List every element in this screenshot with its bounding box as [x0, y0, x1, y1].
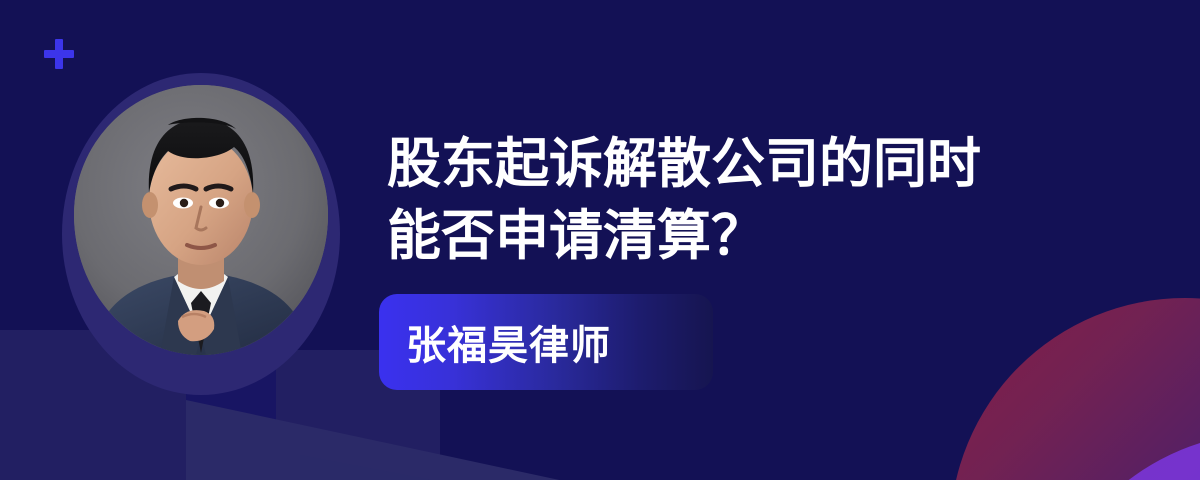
- avatar: [74, 85, 328, 355]
- plus-icon-bar-vertical: [55, 39, 63, 69]
- lawyer-name-badge[interactable]: 张福昊律师: [379, 294, 713, 390]
- title-line-1: 股东起诉解散公司的同时: [387, 128, 1087, 200]
- decorative-circle-outer: [950, 298, 1200, 480]
- avatar-portrait-icon: [74, 85, 328, 355]
- decorative-circle-inner: [1036, 432, 1200, 480]
- decorative-triangle-far: [300, 455, 510, 480]
- page-title: 股东起诉解散公司的同时 能否申请清算？: [387, 128, 1087, 272]
- lawyer-name-label: 张福昊律师: [379, 313, 611, 371]
- title-line-2: 能否申请清算？: [387, 200, 1087, 272]
- plus-icon: [44, 39, 74, 69]
- lawyer-video-banner: 股东起诉解散公司的同时 能否申请清算？ 张福昊律师: [0, 0, 1200, 480]
- decorative-triangle: [186, 400, 606, 480]
